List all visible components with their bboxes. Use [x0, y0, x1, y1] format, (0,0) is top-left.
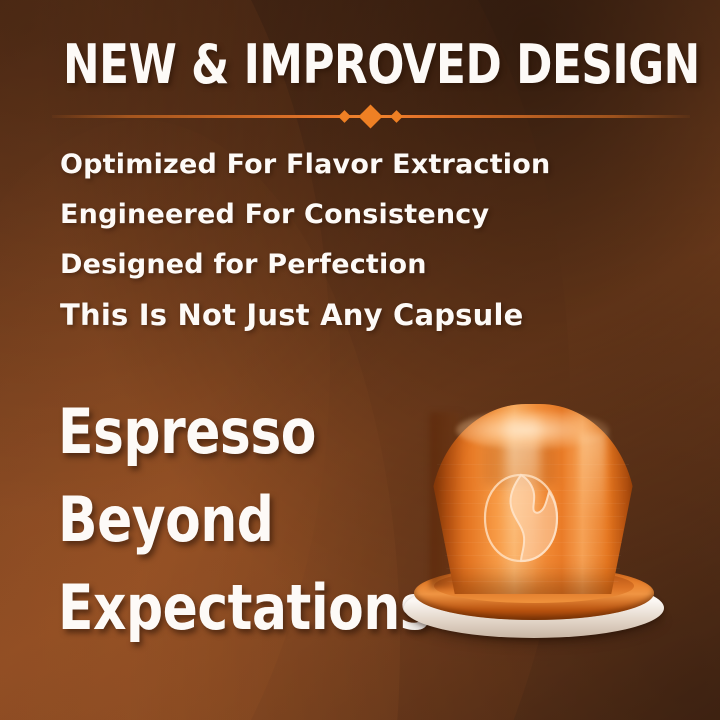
capsule-left-shade: [430, 412, 464, 588]
page-title: NEW & IMPROVED DESIGN: [63, 38, 700, 92]
feature-item: Optimized For Flavor Extraction: [60, 140, 660, 190]
feature-item-emphasis: This Is Not Just Any Capsule: [60, 290, 660, 340]
slogan-line: Beyond: [58, 476, 430, 564]
feature-item: Designed for Perfection: [60, 240, 660, 290]
divider-diamond-center-icon: [358, 104, 382, 128]
capsule-gloss-top: [456, 410, 610, 450]
coffee-bean-flame-icon: [480, 472, 562, 564]
feature-item: Engineered For Consistency: [60, 190, 660, 240]
slogan-line: Espresso: [58, 388, 430, 476]
divider-diamond-left-icon: [338, 110, 351, 123]
diamond-divider: [52, 105, 690, 127]
feature-list: Optimized For Flavor Extraction Engineer…: [60, 140, 660, 340]
slogan-line: Expectations: [58, 564, 430, 652]
divider-diamond-right-icon: [390, 110, 403, 123]
coffee-capsule-image: [398, 398, 670, 650]
promo-poster: NEW & IMPROVED DESIGN Optimized For Flav…: [0, 0, 720, 720]
capsule-gloss-right: [580, 434, 606, 574]
